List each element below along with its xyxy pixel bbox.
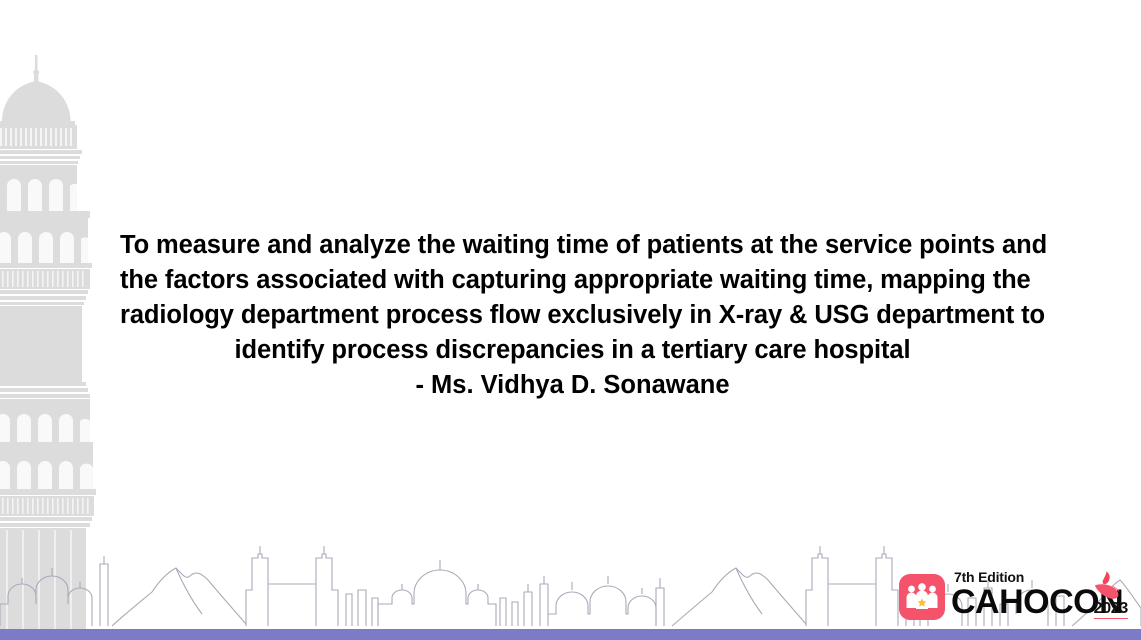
author-credit: - Ms. Vidhya D. Sonawane [120, 368, 1025, 403]
title-line-3: radiology department process flow exclus… [120, 298, 1025, 333]
flame-swoosh-icon [1089, 571, 1121, 601]
charminar-minaret-icon [0, 55, 104, 630]
logo-year-label: 2023 [1094, 601, 1128, 619]
three-people-badge-icon [899, 574, 945, 620]
slide-title-block: To measure and analyze the waiting time … [120, 228, 1025, 403]
title-line-2: the factors associated with capturing ap… [120, 263, 1025, 298]
presentation-slide: To measure and analyze the waiting time … [0, 0, 1141, 640]
bottom-accent-bar [0, 629, 1141, 640]
title-line-4: identify process discrepancies in a tert… [120, 333, 1025, 368]
cahocon-logo: 7th Edition CAHOCON 2023 [891, 562, 1133, 624]
title-line-1: To measure and analyze the waiting time … [120, 228, 1025, 263]
